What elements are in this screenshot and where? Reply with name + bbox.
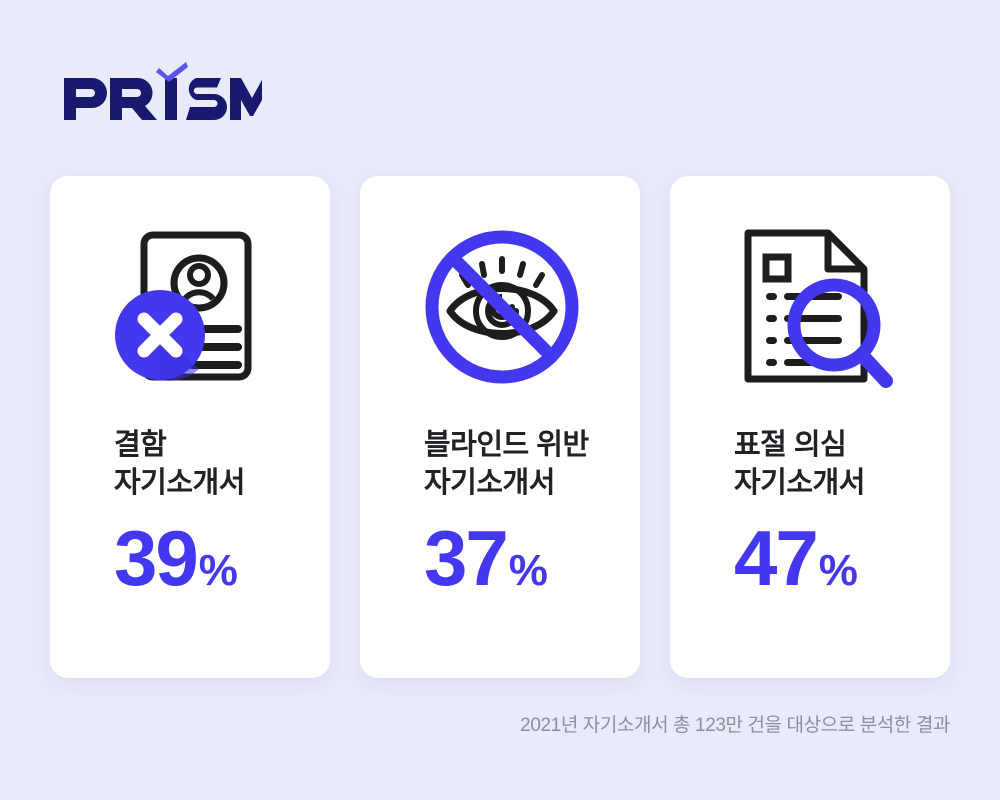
prism-logo-icon xyxy=(62,62,262,124)
card-text-block: 블라인드 위반 자기소개서 37 % xyxy=(360,426,640,597)
brand-logo xyxy=(62,62,322,132)
check-icon xyxy=(156,62,188,82)
footnote: 2021년 자기소개서 총 123만 건을 대상으로 분석한 결과 xyxy=(520,710,950,737)
document-person-rejected-icon xyxy=(102,219,278,395)
card-label: 결함 자기소개서 xyxy=(114,426,310,503)
card-value-number: 37 xyxy=(424,519,507,597)
card-text-block: 결함 자기소개서 39 % xyxy=(50,426,330,597)
card-value: 47 % xyxy=(734,519,930,597)
stat-card-plagiarism[interactable]: 표절 의심 자기소개서 47 % xyxy=(670,176,950,678)
card-value: 39 % xyxy=(114,519,310,597)
document-magnifier-plagiarism-icon xyxy=(722,219,898,395)
card-text-block: 표절 의심 자기소개서 47 % xyxy=(670,426,950,597)
stat-card-defect[interactable]: 결함 자기소개서 39 % xyxy=(50,176,330,678)
card-value: 37 % xyxy=(424,519,620,597)
card-value-unit: % xyxy=(509,549,547,593)
card-value-unit: % xyxy=(819,549,857,593)
card-value-unit: % xyxy=(199,549,237,593)
card-label: 블라인드 위반 자기소개서 xyxy=(424,426,620,503)
stat-card-blind-violation[interactable]: 블라인드 위반 자기소개서 37 % xyxy=(360,176,640,678)
card-icon-area xyxy=(50,176,330,426)
card-icon-area xyxy=(670,176,950,426)
stat-card-list: 결함 자기소개서 39 % xyxy=(50,176,950,678)
card-icon-area xyxy=(360,176,640,426)
card-value-number: 47 xyxy=(734,519,817,597)
no-eye-blind-violation-icon xyxy=(412,219,588,395)
card-value-number: 39 xyxy=(114,519,197,597)
card-label: 표절 의심 자기소개서 xyxy=(734,426,930,503)
